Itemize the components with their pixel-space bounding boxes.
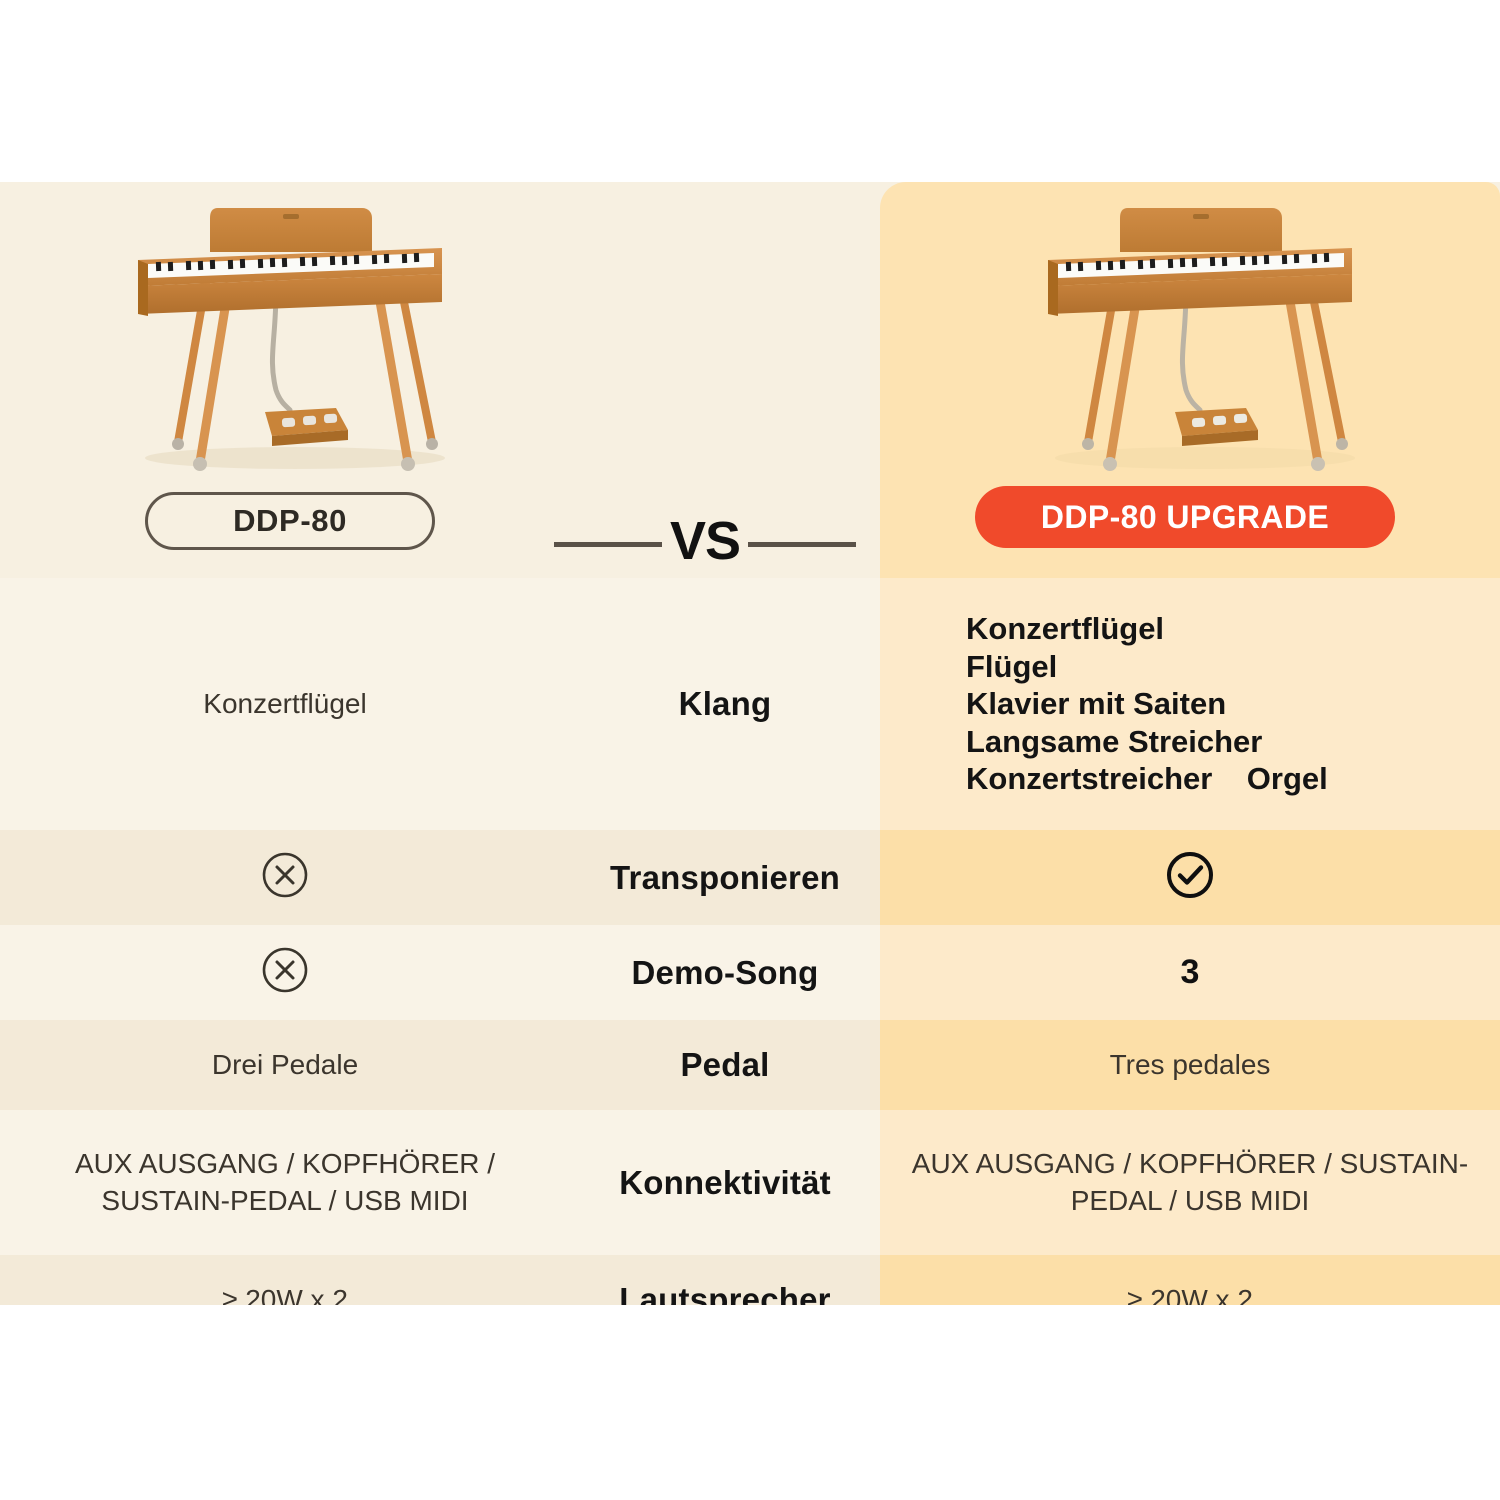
- product-right: DDP-80 UPGRADE: [880, 182, 1500, 578]
- comparison-infographic: DDP-80 VS: [0, 0, 1500, 1500]
- row-lautsprecher-right-value: ≥ 20W x 2: [1127, 1282, 1253, 1305]
- digital-piano-icon: [100, 190, 480, 490]
- row-pedal-left-cell: Drei Pedale: [0, 1020, 570, 1110]
- vs-label: VS: [664, 514, 746, 568]
- row-pedal-right-value: Tres pedales: [1110, 1047, 1271, 1084]
- row-pedal-right-cell: Tres pedales: [880, 1020, 1500, 1110]
- row-pedal-left-value: Drei Pedale: [212, 1047, 358, 1084]
- row-demo-song-label: Demo-Song: [632, 954, 819, 992]
- row-pedal-label: Pedal: [680, 1046, 769, 1084]
- row-konnektivitaet-left-value: AUX AUSGANG / KOPFHÖRER / SUSTAIN-PEDAL …: [14, 1146, 556, 1220]
- circle-x-icon: [260, 850, 310, 905]
- row-klang-left-value: Konzertflügel: [203, 686, 366, 723]
- digital-piano-icon: [1000, 190, 1400, 490]
- table-row: Demo-Song 3: [0, 925, 1500, 1020]
- sound-list-item: Flügel: [966, 648, 1486, 686]
- row-lautsprecher-left-cell: ≥ 20W x 2: [0, 1255, 570, 1305]
- row-klang-label-cell: Klang: [570, 578, 880, 830]
- product-badge-left[interactable]: DDP-80: [145, 492, 435, 550]
- sound-list-item: Konzertflügel: [966, 610, 1486, 648]
- row-demo-song-right-cell: 3: [880, 925, 1500, 1020]
- row-transponieren-label: Transponieren: [610, 859, 840, 897]
- product-badge-right[interactable]: DDP-80 UPGRADE: [975, 486, 1395, 548]
- row-lautsprecher-label: Lautsprecher: [619, 1281, 830, 1305]
- sound-list-item: Klavier mit Saiten: [966, 685, 1486, 723]
- row-demo-song-left-cell: [0, 925, 570, 1020]
- row-transponieren-right-cell: [880, 830, 1500, 925]
- table-row: Drei Pedale Pedal Tres pedales: [0, 1020, 1500, 1110]
- circle-x-icon: [260, 945, 310, 1000]
- spec-rows: Konzertflügel Klang Konzertflügel Flügel…: [0, 578, 1500, 1305]
- row-demo-song-label-cell: Demo-Song: [570, 925, 880, 1020]
- row-konnektivitaet-label-cell: Konnektivität: [570, 1110, 880, 1255]
- piano-illustration-right: [1000, 190, 1400, 495]
- table-row: ≥ 20W x 2 Lautsprecher ≥ 20W x 2: [0, 1255, 1500, 1305]
- row-lautsprecher-left-value: ≥ 20W x 2: [222, 1282, 348, 1305]
- row-klang-label: Klang: [679, 685, 772, 723]
- table-row: Konzertflügel Klang Konzertflügel Flügel…: [0, 578, 1500, 830]
- row-pedal-label-cell: Pedal: [570, 1020, 880, 1110]
- table-row: Transponieren: [0, 830, 1500, 925]
- row-transponieren-left-cell: [0, 830, 570, 925]
- row-konnektivitaet-left-cell: AUX AUSGANG / KOPFHÖRER / SUSTAIN-PEDAL …: [0, 1110, 570, 1255]
- row-lautsprecher-label-cell: Lautsprecher: [570, 1255, 880, 1305]
- sound-list: Konzertflügel Flügel Klavier mit Saiten …: [894, 610, 1486, 798]
- hero-row: DDP-80 VS: [0, 182, 1500, 578]
- vs-divider: VS: [540, 512, 870, 576]
- piano-illustration-left: [100, 190, 480, 495]
- row-lautsprecher-right-cell: ≥ 20W x 2: [880, 1255, 1500, 1305]
- vs-line-left: [554, 542, 662, 547]
- row-transponieren-label-cell: Transponieren: [570, 830, 880, 925]
- vs-line-right: [748, 542, 856, 547]
- row-klang-left-cell: Konzertflügel: [0, 578, 570, 830]
- row-demo-song-right-value: 3: [1181, 950, 1200, 995]
- row-konnektivitaet-right-cell: AUX AUSGANG / KOPFHÖRER / SUSTAIN-PEDAL …: [880, 1110, 1500, 1255]
- row-konnektivitaet-right-value: AUX AUSGANG / KOPFHÖRER / SUSTAIN-PEDAL …: [894, 1146, 1486, 1220]
- circle-check-icon: [1163, 848, 1217, 907]
- row-klang-right-cell: Konzertflügel Flügel Klavier mit Saiten …: [880, 578, 1500, 830]
- row-konnektivitaet-label: Konnektivität: [619, 1164, 831, 1202]
- table-row: AUX AUSGANG / KOPFHÖRER / SUSTAIN-PEDAL …: [0, 1110, 1500, 1255]
- comparison-card: DDP-80 VS: [0, 182, 1500, 1305]
- sound-list-item: Konzertstreicher Orgel: [966, 760, 1486, 798]
- sound-list-item: Langsame Streicher: [966, 723, 1486, 761]
